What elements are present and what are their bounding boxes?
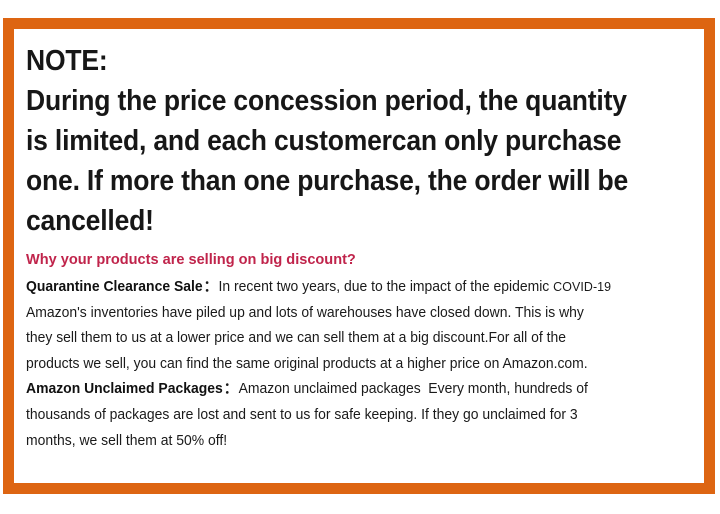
quarantine-lead-label: Quarantine Clearance Sale [26, 279, 203, 295]
paragraph-unclaimed-line-2: thousands of packages are lost and sent … [26, 403, 700, 429]
discount-question-text: Why your products are selling on big dis… [26, 249, 356, 271]
unclaimed-line-1-rest: Amazon unclaimed packages [239, 381, 421, 397]
paragraph-quarantine-line-1: Quarantine Clearance Sale：In recent two … [26, 274, 700, 301]
unclaimed-lead-label: Amazon Unclaimed Packages [26, 381, 223, 397]
paragraph-unclaimed-line-3: months, we sell them at 50% off! [26, 429, 700, 455]
headline-line-2: During the price concession period, the … [26, 81, 653, 121]
unclaimed-colon: ： [223, 381, 239, 397]
paragraph-quarantine-line-3: they sell them to us at a lower price an… [26, 326, 700, 352]
paragraph-unclaimed-line-1: Amazon Unclaimed Packages：Amazon unclaim… [26, 377, 700, 403]
headline-line-3: is limited, and each customercan only pu… [26, 121, 653, 161]
headline-line-5: cancelled! [26, 201, 653, 241]
note-card: NOTE: During the price concession period… [3, 18, 715, 494]
discount-question-heading: Why your products are selling on big dis… [26, 249, 700, 271]
headline-line-1: NOTE: [26, 41, 653, 81]
paragraph-quarantine-line-2: Amazon's inventories have piled up and l… [26, 301, 700, 327]
covid-19-label: COVID-19 [553, 279, 611, 294]
note-headline: NOTE: During the price concession period… [26, 41, 700, 241]
paragraph-quarantine-line-4: products we sell, you can find the same … [26, 352, 700, 378]
headline-line-4: one. If more than one purchase, the orde… [26, 161, 653, 201]
note-body: Quarantine Clearance Sale：In recent two … [26, 274, 700, 454]
quarantine-colon: ： [203, 279, 219, 295]
quarantine-line-1-rest: In recent two years, due to the impact o… [218, 279, 553, 295]
note-card-content: NOTE: During the price concession period… [14, 29, 704, 483]
unclaimed-line-1-extra: Every month, hundreds of [428, 381, 588, 397]
